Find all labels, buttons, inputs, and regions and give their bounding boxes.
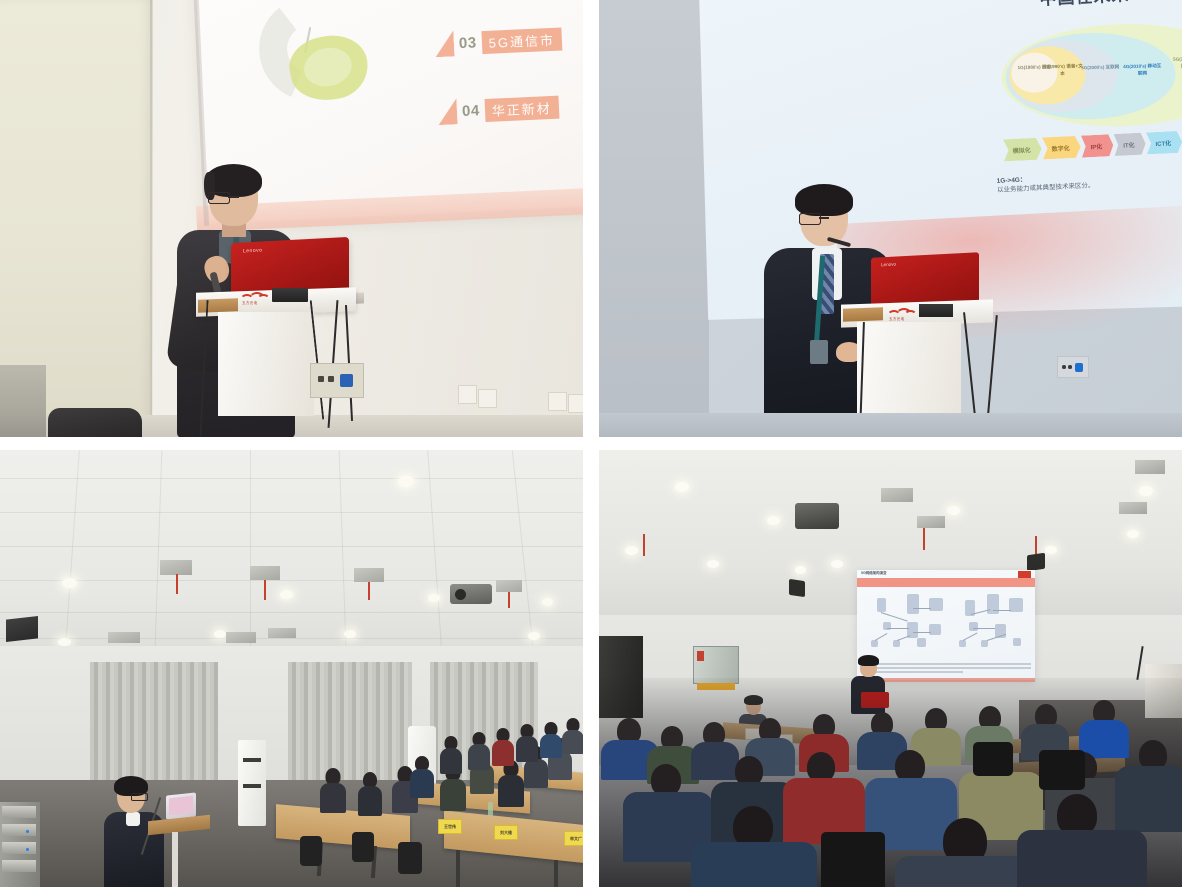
agenda-triangle-icon <box>437 98 457 125</box>
podium-logo-text: 五方光电 <box>889 317 905 322</box>
ceiling-projector <box>450 584 492 604</box>
photo-cell-top-right: 中国在未来5G中的角色 WA 1G(1980's) 语音 2G(1990's) … <box>591 0 1182 443</box>
ceiling-light <box>214 630 226 638</box>
photo-cell-bottom-left: 王世伟 刘大维 林文广 <box>0 443 591 887</box>
audience-person <box>516 724 538 760</box>
wall-outlet <box>1057 356 1089 378</box>
photo-bottom-right: 5G网络架构演变 <box>599 450 1182 887</box>
audience-person <box>468 732 490 768</box>
ceiling-light <box>707 560 719 568</box>
air-vent <box>1119 502 1147 514</box>
agenda-row-04: 04 华正新材 <box>437 94 559 125</box>
water-cooler <box>238 740 266 826</box>
ceiling-light <box>1045 546 1057 554</box>
water-bottle <box>488 802 493 817</box>
floor-outlet-box <box>310 363 364 398</box>
ceiling-light <box>344 630 356 638</box>
chair <box>973 742 1013 776</box>
audience-shoulders <box>691 842 817 887</box>
chair <box>352 832 374 862</box>
ceiling-light <box>542 598 553 606</box>
photo-cell-bottom-right: 5G网络架构演变 <box>591 443 1182 887</box>
ceiling-light <box>1139 486 1153 496</box>
brand-logo <box>1018 571 1031 578</box>
air-vent <box>268 628 296 638</box>
wall-speaker <box>6 616 38 642</box>
ceiling-light <box>675 482 689 492</box>
air-vent <box>354 568 384 582</box>
photo-cell-top-left: 02 5G通信市 03 5G通信市 04 华正新材 <box>0 0 591 443</box>
air-vent <box>160 560 192 575</box>
air-vent <box>1135 460 1165 474</box>
ceiling-light <box>280 590 293 599</box>
av-equipment-rack <box>0 802 40 887</box>
photo-top-right: 中国在未来5G中的角色 WA 1G(1980's) 语音 2G(1990's) … <box>599 0 1182 437</box>
audience-shoulders <box>1115 766 1182 832</box>
air-vent <box>496 580 522 592</box>
lectern-stand <box>172 832 178 887</box>
air-vent <box>250 566 280 580</box>
laptop-brand-label: Lenovo <box>243 247 262 254</box>
audience-person <box>320 768 346 812</box>
ellipse-label-2g: 2G(1990's) 语音+文本 <box>1041 63 1083 78</box>
ceiling-projector <box>795 503 839 529</box>
audience-shoulders <box>691 742 739 780</box>
ceiling-light <box>947 506 960 515</box>
floor-strip <box>599 413 1182 437</box>
air-vent <box>108 632 140 643</box>
ceiling-light <box>767 516 780 525</box>
photo-top-left: 02 5G通信市 03 5G通信市 04 华正新材 <box>0 0 583 437</box>
slide-bullets: 1G->4G： 以业务能力或其典型技术来区分。 5G：业务驱动 数据-量、密度、… <box>996 160 1182 175</box>
ceiling-light <box>428 594 440 602</box>
donut-chart-graphic <box>257 0 366 103</box>
podium-logo: 五方光电 <box>885 306 915 321</box>
audience-person <box>440 736 462 772</box>
bag-on-floor <box>48 408 142 437</box>
podium-body <box>857 322 961 418</box>
air-vent <box>881 488 913 502</box>
agenda-triangle-icon <box>434 30 454 57</box>
wall-outlet <box>478 389 497 408</box>
slide-header-text: 5G网络架构演变 <box>861 571 887 576</box>
chevron-item: 数字化 <box>1042 136 1081 160</box>
agenda-label: 华正新材 <box>484 95 559 121</box>
agenda-row-03: 03 5G通信市 <box>434 25 562 57</box>
audience-person <box>492 728 514 764</box>
wall-outlet <box>548 392 567 411</box>
ceiling-light <box>1127 530 1139 538</box>
ceiling-light <box>795 566 806 574</box>
wall-speaker <box>1027 553 1045 572</box>
audience-person <box>540 722 562 756</box>
audience-person <box>498 760 524 804</box>
agenda-number: 04 <box>462 102 480 120</box>
badge <box>810 340 828 364</box>
podium-control-plate <box>919 304 953 317</box>
photo-collage: 02 5G通信市 03 5G通信市 04 华正新材 <box>0 0 1182 887</box>
wall-outlet <box>568 394 583 413</box>
laptop-brand-label: Lenovo <box>881 262 896 268</box>
podium-logo-text: 五方光电 <box>242 301 258 306</box>
wall-outlet <box>458 385 477 404</box>
window-curtain <box>90 662 218 790</box>
name-card: 王世伟 <box>438 819 462 834</box>
photo-bottom-left: 王世伟 刘大维 林文广 <box>0 450 583 887</box>
glasses-icon <box>131 793 148 801</box>
name-card: 林文广 <box>564 831 583 846</box>
ceiling-light <box>398 476 414 487</box>
bullet-heading: 5G：业务驱动 <box>1165 168 1182 185</box>
podium-control-plate <box>272 288 308 302</box>
air-vent <box>917 516 945 528</box>
ellipse-label-5g: 5G(2020's) 大数据 云服务 体验体验 <box>1171 56 1182 71</box>
chair <box>821 832 885 887</box>
ellipse-label-3g: 3G(2000's) 互联网 <box>1079 64 1121 72</box>
chevron-item: ICT化 <box>1146 131 1182 155</box>
air-vent <box>226 632 256 643</box>
ceiling-light <box>58 638 71 646</box>
bullet-group-left: 1G->4G： 以业务能力或其典型技术来区分。 <box>996 168 1147 198</box>
ceiling-light <box>62 578 77 588</box>
chevron-item: 模拟化 <box>1003 138 1042 162</box>
audience-person <box>410 756 434 796</box>
chair <box>1039 750 1085 790</box>
podium-wood-trim <box>198 298 238 312</box>
glasses-icon <box>208 192 259 202</box>
ceiling-light <box>831 560 843 568</box>
chair <box>398 842 422 874</box>
ceiling-light <box>625 546 638 555</box>
ellipse-label-4g: 4G(2010's) 移动互联网 <box>1121 63 1163 78</box>
audience-person <box>358 772 382 814</box>
floor-shadow <box>0 365 46 437</box>
chevron-item: IT化 <box>1114 133 1146 157</box>
laptop <box>166 792 196 819</box>
slide-header-bar <box>857 578 1035 587</box>
audience-shoulders <box>1017 830 1147 887</box>
audience-person <box>562 718 583 752</box>
slide-footnotes <box>861 663 1031 677</box>
chevron-item: IP化 <box>1081 134 1114 158</box>
glasses-icon <box>799 213 849 223</box>
name-card: 刘大维 <box>494 825 518 840</box>
podium-logo: 五方光电 <box>238 290 268 306</box>
wall-left-section <box>599 0 709 437</box>
slide-title: 中国在未来5G中的角色 <box>1039 0 1182 10</box>
wall-speaker <box>789 579 805 597</box>
ceiling-light <box>528 632 540 640</box>
agenda-number: 03 <box>459 34 477 52</box>
network-topology-diagram <box>863 592 1029 652</box>
audience-shoulders <box>895 856 1035 887</box>
wall-seam <box>150 0 153 437</box>
podium-body <box>218 312 314 416</box>
podium-wood-trim <box>843 307 883 321</box>
chair <box>300 836 322 866</box>
chevron-progression: 模拟化 数字化 IP化 IT化 ICT化 <box>1003 131 1182 162</box>
agenda-label: 5G通信市 <box>481 27 562 54</box>
